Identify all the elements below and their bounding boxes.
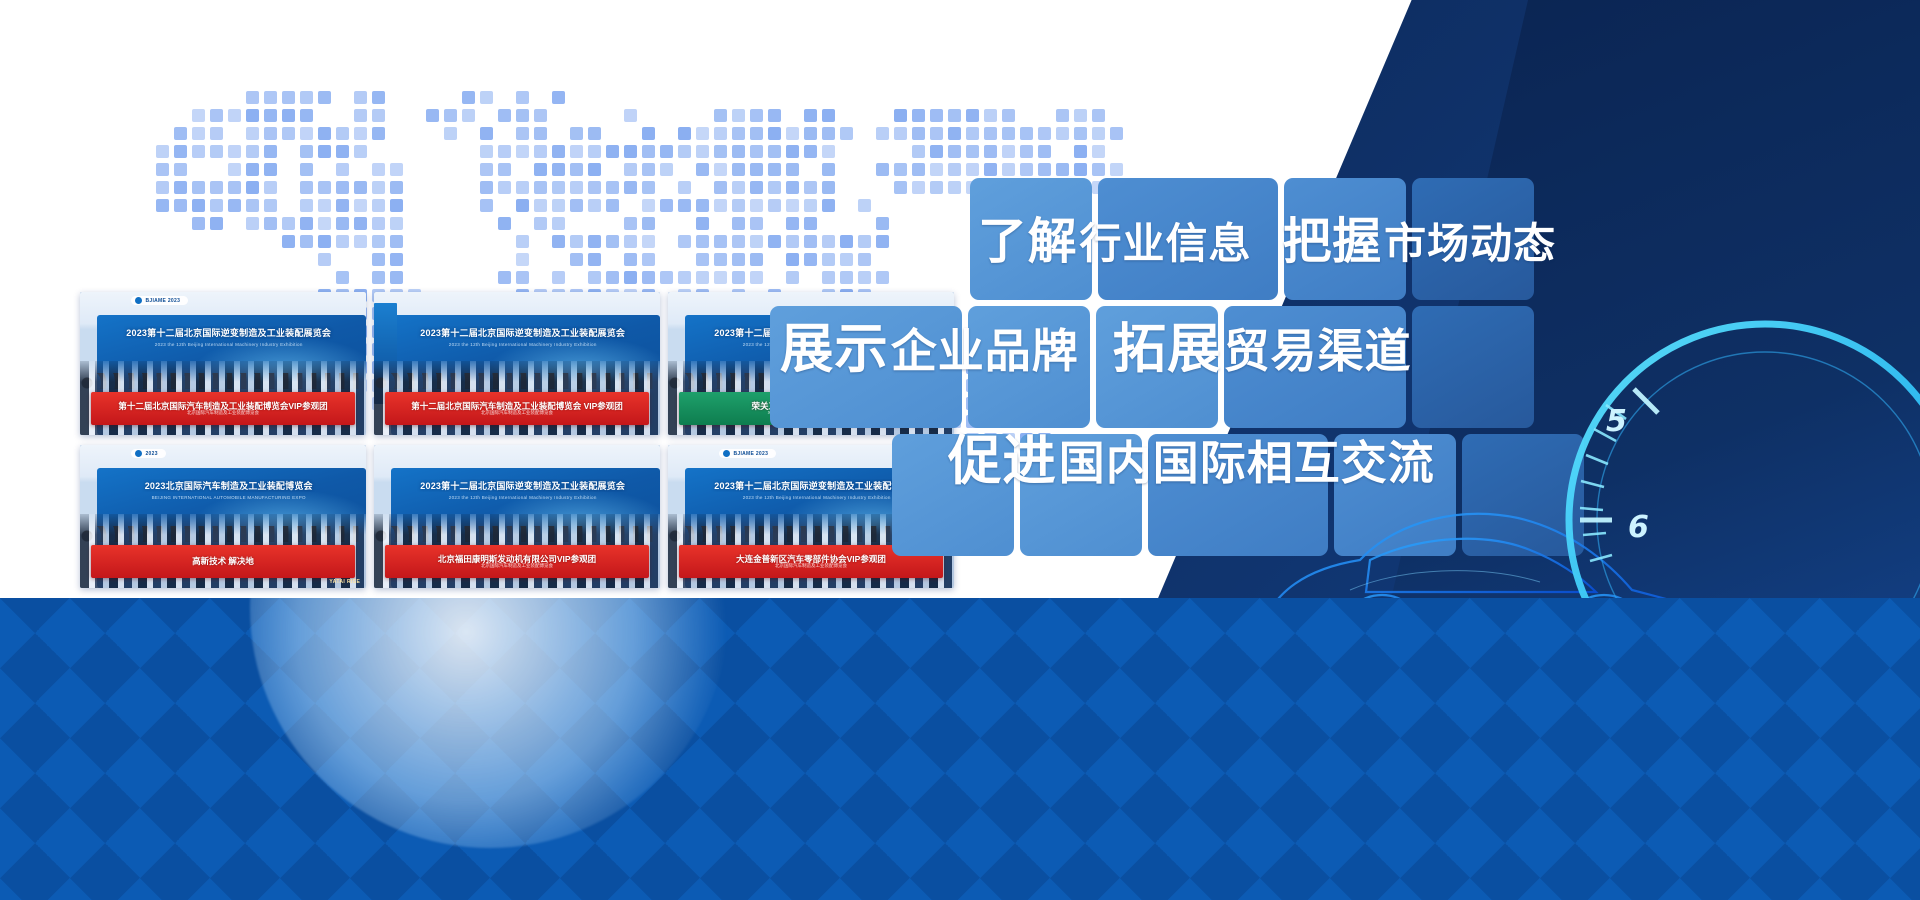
map-dot (462, 109, 475, 122)
map-dot (642, 127, 655, 140)
map-dot (840, 253, 853, 266)
map-dot (822, 199, 835, 212)
map-dot (732, 217, 745, 230)
group-banner-subtext: 北京国际汽车制造及工业装配博览会 (187, 411, 259, 416)
backdrop-title: 2023第十二届北京国际逆变制造及工业装配展览会 (397, 479, 649, 492)
map-dot (552, 217, 565, 230)
backdrop-subtitle: 2023 the 12th Beijing International Mach… (397, 342, 649, 347)
map-dot (372, 181, 385, 194)
map-dot (552, 235, 565, 248)
map-dot (372, 235, 385, 248)
group-banner: 第十二届北京国际汽车制造及工业装配博览会VIP参观团 北京国际汽车制造及工业装配… (91, 392, 354, 425)
map-dot (840, 127, 853, 140)
map-dot (768, 163, 781, 176)
map-dot (588, 127, 601, 140)
map-dot (300, 127, 313, 140)
map-dot (246, 217, 259, 230)
map-dot (768, 109, 781, 122)
backdrop-subtitle: 2023 the 12th Beijing International Mach… (103, 342, 355, 347)
map-dot (714, 163, 727, 176)
map-dot (372, 91, 385, 104)
map-dot (1056, 127, 1069, 140)
map-dot (318, 181, 331, 194)
map-dot (336, 217, 349, 230)
map-dot (1002, 109, 1015, 122)
map-dot (390, 217, 403, 230)
map-dot (318, 91, 331, 104)
gallery-photo[interactable]: 2023第十二届北京国际逆变制造及工业装配展览会 2023 the 12th B… (374, 292, 660, 435)
map-dot (228, 109, 241, 122)
map-dot (912, 109, 925, 122)
map-dot (300, 145, 313, 158)
map-dot (534, 199, 547, 212)
gallery-photo[interactable]: 2023 2023北京国际汽车制造及工业装配博览会 BEIJING INTERN… (80, 445, 366, 588)
map-dot (858, 199, 871, 212)
map-dot (768, 127, 781, 140)
map-dot (480, 91, 493, 104)
map-dot (246, 91, 259, 104)
map-dot (786, 235, 799, 248)
map-dot (246, 145, 259, 158)
map-dot (750, 217, 763, 230)
map-dot (498, 145, 511, 158)
map-dot (264, 145, 277, 158)
map-dot (732, 199, 745, 212)
map-dot (858, 253, 871, 266)
map-dot (678, 235, 691, 248)
map-dot (552, 163, 565, 176)
map-dot (192, 145, 205, 158)
map-dot (696, 253, 709, 266)
group-banner: 高新技术 解决地 (91, 545, 354, 578)
map-dot (516, 109, 529, 122)
map-dot (912, 127, 925, 140)
map-dot (516, 145, 529, 158)
map-dot (552, 199, 565, 212)
map-dot (984, 109, 997, 122)
map-dot (678, 127, 691, 140)
map-dot (372, 253, 385, 266)
map-dot (804, 235, 817, 248)
slogan-2-rest-2: 贸易渠道 (1223, 324, 1411, 378)
map-dot (228, 163, 241, 176)
backdrop-subtitle: BEIJING INTERNATIONAL AUTOMOBILE MANUFAC… (103, 495, 355, 500)
map-dot (1020, 163, 1033, 176)
map-dot (786, 127, 799, 140)
map-dot (390, 199, 403, 212)
map-dot (570, 163, 583, 176)
map-dot (714, 253, 727, 266)
map-dot (768, 181, 781, 194)
map-dot (570, 145, 583, 158)
map-dot (570, 253, 583, 266)
map-dot (192, 127, 205, 140)
map-dot (264, 127, 277, 140)
map-dot (390, 271, 403, 284)
map-dot (1038, 163, 1051, 176)
map-dot (750, 181, 763, 194)
map-dot (786, 181, 799, 194)
map-dot (894, 109, 907, 122)
group-banner: 第十二届北京国际汽车制造及工业装配博览会 VIP参观团 北京国际汽车制造及工业装… (385, 392, 648, 425)
map-dot (282, 109, 295, 122)
group-banner-subtext: 北京国际汽车制造及工业装配博览会 (481, 564, 553, 569)
map-dot (1092, 145, 1105, 158)
map-dot (588, 235, 601, 248)
map-dot (750, 235, 763, 248)
map-dot (912, 181, 925, 194)
map-dot (282, 127, 295, 140)
map-dot (840, 271, 853, 284)
map-dot (768, 145, 781, 158)
map-dot (804, 253, 817, 266)
map-dot (696, 127, 709, 140)
map-dot (624, 253, 637, 266)
map-dot (678, 271, 691, 284)
map-dot (714, 199, 727, 212)
map-dot (624, 109, 637, 122)
map-dot (300, 217, 313, 230)
map-dot (516, 91, 529, 104)
event-badge-label: BJIAME 2023 (145, 298, 180, 304)
map-dot (498, 217, 511, 230)
badge-dot-icon (135, 450, 142, 457)
backdrop-title: 2023第十二届北京国际逆变制造及工业装配展览会 (103, 326, 355, 339)
map-dot (210, 109, 223, 122)
map-dot (876, 127, 889, 140)
map-dot (930, 163, 943, 176)
map-dot (372, 271, 385, 284)
map-dot (192, 199, 205, 212)
map-dot (768, 199, 781, 212)
map-dot (966, 145, 979, 158)
slogan-line-1: 了解行业信息 把握市场动态 (978, 202, 1556, 273)
map-dot (480, 163, 493, 176)
map-dot (516, 199, 529, 212)
map-dot (210, 127, 223, 140)
map-dot (804, 217, 817, 230)
map-dot (750, 271, 763, 284)
map-dot (606, 199, 619, 212)
map-dot (300, 181, 313, 194)
map-dot (300, 109, 313, 122)
map-dot (822, 127, 835, 140)
promo-banner: BJIAME 2023 2023第十二届北京国际逆变制造及工业装配展览会 202… (0, 0, 1920, 900)
map-dot (1038, 127, 1051, 140)
map-dot (210, 199, 223, 212)
group-banner-subtext: 北京国际汽车制造及工业装配博览会 (775, 564, 847, 569)
slogan-mosaic: 了解行业信息 把握市场动态 展示企业品牌 拓展贸易渠道 促进国内国际相互交流 (930, 178, 1710, 578)
slogan-2-emphasis: 展示 (780, 317, 889, 380)
slogan-1-emphasis-2: 把握 (1283, 214, 1382, 270)
map-dot (732, 163, 745, 176)
map-dot (282, 91, 295, 104)
mosaic-tile (1412, 306, 1534, 428)
map-dot (732, 109, 745, 122)
map-dot (876, 235, 889, 248)
backdrop-title: 2023北京国际汽车制造及工业装配博览会 (103, 479, 355, 492)
map-dot (336, 127, 349, 140)
map-dot (696, 163, 709, 176)
map-dot (300, 235, 313, 248)
map-dot (300, 163, 313, 176)
map-dot (984, 163, 997, 176)
map-dot (390, 163, 403, 176)
slogan-3-rest: 国内国际相互交流 (1059, 436, 1435, 490)
map-dot (498, 181, 511, 194)
map-dot (1074, 109, 1087, 122)
map-dot (894, 163, 907, 176)
map-dot (930, 127, 943, 140)
map-dot (876, 163, 889, 176)
event-badge: BJIAME 2023 (131, 296, 188, 305)
map-dot (246, 181, 259, 194)
map-dot (642, 253, 655, 266)
map-dot (966, 163, 979, 176)
map-dot (552, 271, 565, 284)
map-dot (822, 271, 835, 284)
map-dot (822, 145, 835, 158)
map-dot (642, 181, 655, 194)
slogan-line-3: 促进国内国际相互交流 (948, 418, 1435, 495)
slogan-1-emphasis: 了解 (978, 214, 1077, 270)
map-dot (354, 217, 367, 230)
map-dot (228, 199, 241, 212)
map-dot (444, 109, 457, 122)
map-dot (804, 199, 817, 212)
map-dot (228, 181, 241, 194)
map-dot (588, 253, 601, 266)
map-dot (534, 127, 547, 140)
map-dot (588, 181, 601, 194)
map-dot (192, 181, 205, 194)
map-dot (570, 235, 583, 248)
map-dot (642, 217, 655, 230)
band-curve (517, 598, 1803, 900)
map-dot (570, 127, 583, 140)
map-dot (912, 145, 925, 158)
map-dot (696, 235, 709, 248)
map-dot (264, 91, 277, 104)
map-dot (750, 253, 763, 266)
event-badge-label: BJIAME 2023 (733, 451, 768, 457)
map-dot (804, 127, 817, 140)
map-dot (732, 271, 745, 284)
map-dot (606, 181, 619, 194)
map-dot (372, 217, 385, 230)
map-dot (372, 109, 385, 122)
map-dot (264, 217, 277, 230)
map-dot (1056, 163, 1069, 176)
map-dot (174, 199, 187, 212)
map-dot (336, 271, 349, 284)
map-dot (858, 235, 871, 248)
map-dot (228, 145, 241, 158)
map-dot (606, 145, 619, 158)
map-dot (678, 199, 691, 212)
map-dot (624, 145, 637, 158)
map-dot (354, 181, 367, 194)
map-dot (714, 145, 727, 158)
map-dot (948, 163, 961, 176)
map-dot (156, 163, 169, 176)
event-badge: 2023 (131, 449, 165, 458)
map-dot (732, 181, 745, 194)
map-dot (714, 127, 727, 140)
gallery-photo[interactable]: 2023第十二届北京国际逆变制造及工业装配展览会 2023 the 12th B… (374, 445, 660, 588)
map-dot (858, 271, 871, 284)
map-dot (606, 271, 619, 284)
map-dot (822, 253, 835, 266)
map-dot (390, 235, 403, 248)
map-dot (786, 217, 799, 230)
map-dot (714, 181, 727, 194)
map-dot (390, 253, 403, 266)
map-dot (354, 199, 367, 212)
map-dot (372, 199, 385, 212)
map-dot (732, 235, 745, 248)
map-dot (948, 145, 961, 158)
map-dot (1074, 127, 1087, 140)
map-dot (660, 199, 673, 212)
group-banner: 北京福田康明斯发动机有限公司VIP参观团 北京国际汽车制造及工业装配博览会 (385, 545, 648, 578)
map-dot (570, 199, 583, 212)
map-dot (642, 235, 655, 248)
map-dot (534, 217, 547, 230)
map-dot (696, 145, 709, 158)
map-dot (588, 163, 601, 176)
slogan-2-rest: 企业品牌 (891, 324, 1079, 378)
map-dot (534, 145, 547, 158)
map-dot (624, 217, 637, 230)
map-dot (714, 271, 727, 284)
map-dot (372, 127, 385, 140)
group-banner-text: 高新技术 解决地 (192, 557, 254, 566)
map-dot (318, 235, 331, 248)
map-dot (246, 199, 259, 212)
map-dot (480, 145, 493, 158)
map-dot (1002, 145, 1015, 158)
map-dot (156, 145, 169, 158)
map-dot (462, 91, 475, 104)
map-dot (984, 127, 997, 140)
map-dot (282, 217, 295, 230)
map-dot (822, 235, 835, 248)
map-dot (336, 235, 349, 248)
map-dot (318, 127, 331, 140)
map-dot (1002, 163, 1015, 176)
map-dot (174, 145, 187, 158)
map-dot (822, 163, 835, 176)
group-banner-subtext: 北京国际汽车制造及工业装配博览会 (481, 411, 553, 416)
map-dot (534, 163, 547, 176)
map-dot (210, 217, 223, 230)
map-dot (642, 145, 655, 158)
event-badge: BJIAME 2023 (719, 449, 776, 458)
map-dot (1092, 127, 1105, 140)
map-dot (912, 163, 925, 176)
backdrop-subtitle: 2023 the 12th Beijing International Mach… (397, 495, 649, 500)
map-dot (318, 199, 331, 212)
map-dot (660, 163, 673, 176)
map-dot (822, 109, 835, 122)
map-dot (624, 163, 637, 176)
map-dot (732, 127, 745, 140)
map-dot (336, 181, 349, 194)
map-dot (948, 127, 961, 140)
map-dot (516, 271, 529, 284)
map-dot (696, 199, 709, 212)
slogan-line-2: 展示企业品牌 拓展贸易渠道 (780, 306, 1411, 383)
map-dot (1074, 163, 1087, 176)
map-dot (336, 199, 349, 212)
bottom-decorative-band (0, 598, 1920, 900)
map-dot (336, 163, 349, 176)
map-dot (696, 271, 709, 284)
map-dot (264, 163, 277, 176)
map-dot (300, 199, 313, 212)
slogan-2-emphasis-2: 拓展 (1113, 317, 1222, 380)
map-dot (786, 145, 799, 158)
map-dot (552, 91, 565, 104)
map-dot (1110, 127, 1123, 140)
map-dot (1092, 109, 1105, 122)
map-dot (516, 181, 529, 194)
map-dot (606, 235, 619, 248)
map-dot (624, 271, 637, 284)
map-dot (750, 127, 763, 140)
map-dot (318, 145, 331, 158)
map-dot (516, 235, 529, 248)
map-dot (696, 217, 709, 230)
slogan-3-emphasis: 促进 (948, 429, 1057, 492)
map-dot (210, 181, 223, 194)
map-dot (516, 127, 529, 140)
map-dot (624, 235, 637, 248)
map-dot (552, 145, 565, 158)
slogan-1-rest-2: 市场动态 (1384, 219, 1556, 268)
map-dot (534, 181, 547, 194)
map-dot (174, 163, 187, 176)
map-dot (588, 199, 601, 212)
map-dot (354, 109, 367, 122)
map-dot (750, 109, 763, 122)
map-dot (750, 199, 763, 212)
map-dot (426, 109, 439, 122)
map-dot (156, 199, 169, 212)
map-dot (480, 199, 493, 212)
map-dot (624, 181, 637, 194)
map-dot (246, 127, 259, 140)
map-dot (660, 145, 673, 158)
map-dot (444, 127, 457, 140)
map-dot (174, 127, 187, 140)
map-dot (894, 127, 907, 140)
map-dot (210, 145, 223, 158)
map-dot (156, 181, 169, 194)
map-dot (678, 145, 691, 158)
slogan-1-rest: 行业信息 (1079, 219, 1251, 268)
map-dot (840, 235, 853, 248)
map-dot (498, 109, 511, 122)
map-dot (930, 145, 943, 158)
map-dot (1110, 163, 1123, 176)
map-dot (642, 163, 655, 176)
gallery-photo[interactable]: BJIAME 2023 2023第十二届北京国际逆变制造及工业装配展览会 202… (80, 292, 366, 435)
map-dot (318, 217, 331, 230)
map-dot (642, 199, 655, 212)
map-dot (498, 163, 511, 176)
